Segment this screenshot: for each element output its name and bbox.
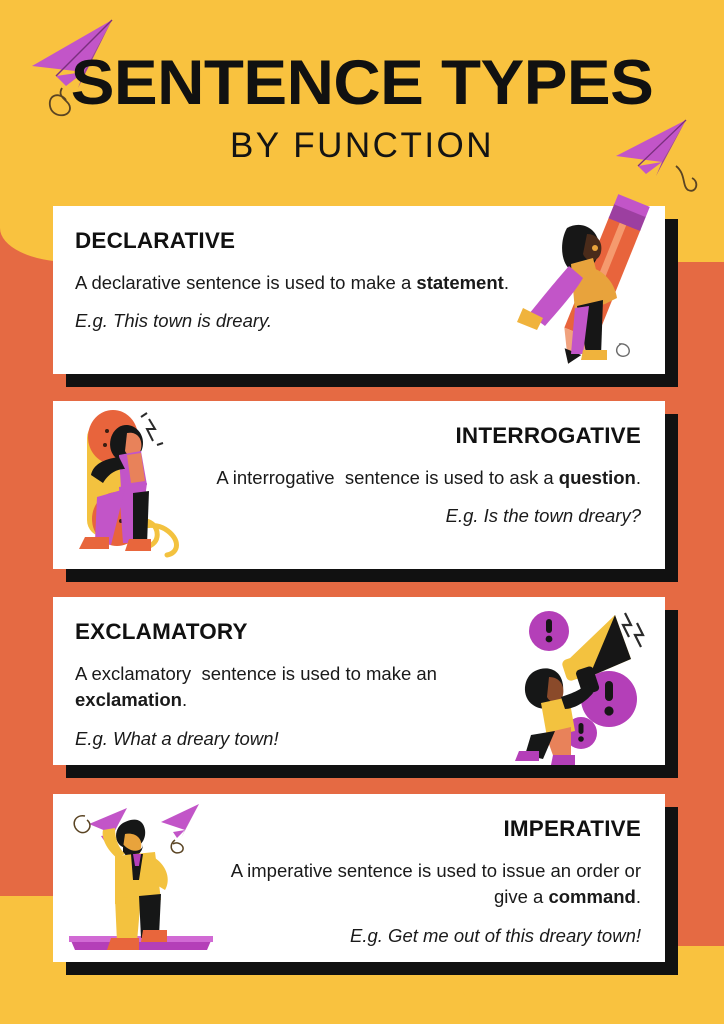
page-title: SENTENCE TYPES (0, 52, 724, 115)
card-example: E.g. Get me out of this dreary town! (211, 925, 641, 947)
figure-with-pencil-illustration (509, 208, 659, 374)
card-declarative[interactable]: DECLARATIVE A declarative sentence is us… (53, 206, 665, 374)
figure-with-paper-planes-illustration (63, 796, 221, 962)
card-interrogative[interactable]: INTERROGATIVE A interrogative sentence i… (53, 401, 665, 569)
page-subtitle: BY FUNCTION (0, 128, 724, 163)
card-heading: DECLARATIVE (75, 228, 524, 254)
card-heading: EXCLAMATORY (75, 619, 514, 645)
card-text-block: EXCLAMATORY A exclamatory sentence is us… (75, 619, 505, 750)
card-heading: IMPERATIVE (202, 816, 641, 842)
figure-with-telephone-illustration (61, 403, 221, 569)
card-text-block: INTERROGATIVE A interrogative sentence i… (211, 423, 641, 527)
card-example: E.g. Is the town dreary? (211, 505, 641, 527)
card-body: A declarative sentence is used to make a… (75, 270, 515, 296)
poster-root: SENTENCE TYPES BY FUNCTION (0, 0, 724, 1024)
card-text-block: DECLARATIVE A declarative sentence is us… (75, 228, 515, 332)
card-example: E.g. This town is dreary. (75, 310, 515, 332)
card-example: E.g. What a dreary town! (75, 728, 505, 750)
poster-header: SENTENCE TYPES BY FUNCTION (0, 0, 724, 200)
figure-with-megaphone-illustration (505, 599, 657, 765)
card-body: A imperative sentence is used to issue a… (211, 858, 641, 911)
card-body: A interrogative sentence is used to ask … (211, 465, 641, 491)
card-heading: INTERROGATIVE (202, 423, 641, 449)
card-text-block: IMPERATIVE A imperative sentence is used… (211, 816, 641, 947)
card-body: A exclamatory sentence is used to make a… (75, 661, 505, 714)
card-exclamatory[interactable]: EXCLAMATORY A exclamatory sentence is us… (53, 597, 665, 765)
card-imperative[interactable]: IMPERATIVE A imperative sentence is used… (53, 794, 665, 962)
